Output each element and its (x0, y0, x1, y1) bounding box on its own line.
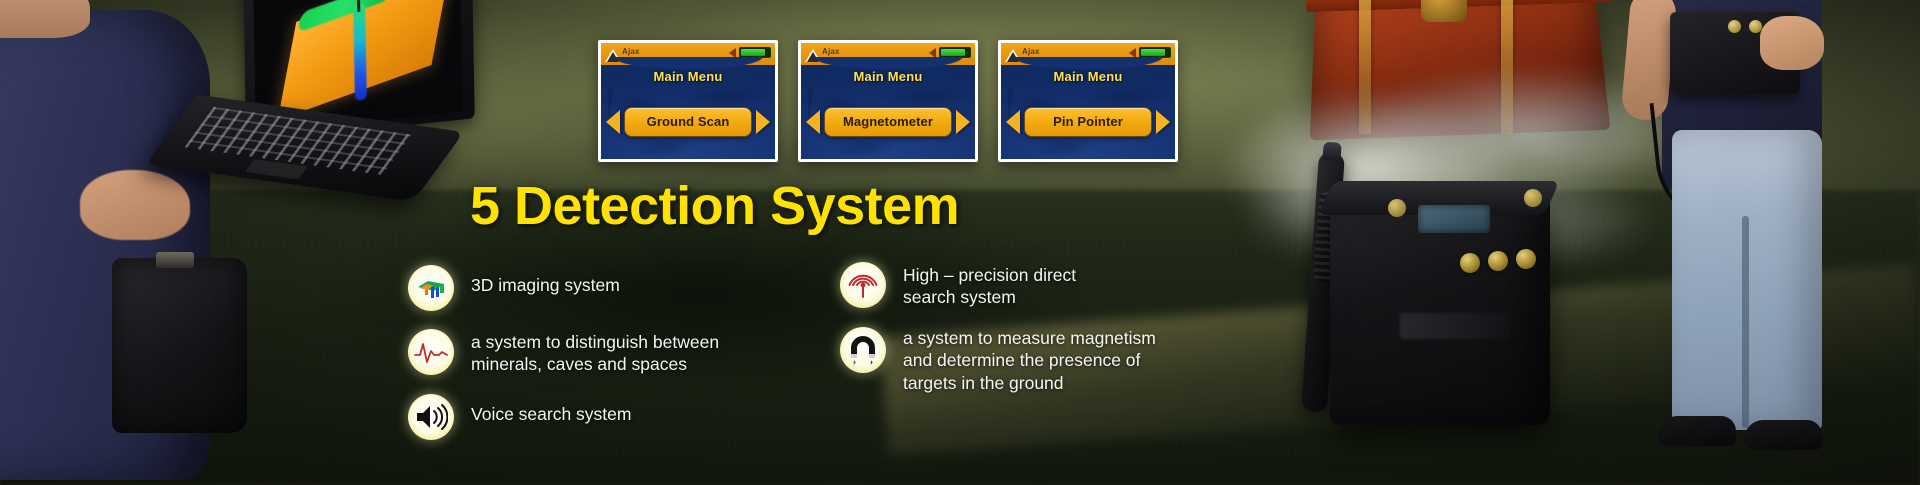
feature-list-right: High – precision direct search system a … (840, 262, 1240, 412)
chevron-right-icon[interactable] (956, 110, 970, 134)
feature-label: a system to measure magnetism and determ… (903, 327, 1156, 394)
promo-banner: Ajax Main Menu Ground Scan (0, 0, 1920, 485)
3d-imaging-icon (408, 265, 454, 311)
menu-option-button[interactable]: Pin Pointer (1024, 107, 1152, 137)
magnet-glyph (847, 334, 879, 366)
battery-icon (939, 47, 971, 58)
detector-knob (1460, 253, 1480, 273)
feature-item-3d-imaging: 3D imaging system (408, 265, 828, 311)
person-with-detector (1640, 0, 1920, 485)
speaker-icon (1129, 48, 1136, 58)
detector-knob (1516, 249, 1536, 269)
feature-item-direct-search: High – precision direct search system (840, 262, 1240, 309)
feature-label: 3D imaging system (471, 265, 620, 296)
device-menu-panels: Ajax Main Menu Ground Scan (598, 40, 1178, 162)
equipment-bag (112, 258, 247, 433)
chevron-left-icon[interactable] (606, 110, 620, 134)
feature-item-magnetometer: a system to measure magnetism and determ… (840, 327, 1240, 394)
right-person-hand (1760, 16, 1824, 70)
waist-knob (1728, 20, 1741, 33)
feature-label: High – precision direct search system (903, 262, 1076, 309)
battery-icon (1139, 47, 1171, 58)
chevron-left-icon[interactable] (1006, 110, 1020, 134)
feature-label: Voice search system (471, 394, 631, 425)
menu-option-button[interactable]: Ground Scan (624, 107, 752, 137)
mountain-logo-icon (805, 46, 822, 62)
chest-band (1501, 0, 1513, 134)
detector-knob (1488, 251, 1508, 271)
device-panel-ground-scan[interactable]: Ajax Main Menu Ground Scan (598, 40, 778, 162)
left-person-arm (80, 170, 190, 240)
device-panel-pin-pointer[interactable]: Ajax Main Menu Pin Pointer (998, 40, 1178, 162)
scan-marker-needle (357, 0, 360, 12)
feature-list-left: 3D imaging system a system to distinguis… (408, 265, 828, 458)
antenna-signal-glyph (847, 269, 879, 301)
waveform-glyph (413, 338, 449, 366)
panel-title: Main Menu (1001, 69, 1175, 84)
device-status-bar: Ajax (1001, 43, 1175, 65)
magnet-icon (840, 327, 886, 373)
feature-label: a system to distinguish between minerals… (471, 329, 719, 376)
detector-latch (1388, 199, 1406, 217)
mountain-logo-icon (1005, 46, 1022, 62)
detector-case (1330, 195, 1550, 425)
detector-brand-emboss (1400, 313, 1510, 339)
speaker-wave-glyph (414, 402, 448, 432)
device-status-bar: Ajax (801, 43, 975, 65)
chevron-right-icon[interactable] (1156, 110, 1170, 134)
right-person-shoe (1658, 416, 1736, 446)
chest-band (1359, 0, 1371, 134)
menu-option-button[interactable]: Magnetometer (824, 107, 952, 137)
scan-target-spike (353, 3, 367, 101)
panel-title: Main Menu (601, 69, 775, 84)
right-person-shoe (1744, 420, 1822, 450)
wand-tip (1323, 142, 1342, 161)
chevron-right-icon[interactable] (756, 110, 770, 134)
speaker-wave-icon (408, 394, 454, 440)
bag-buckle (156, 252, 194, 268)
speaker-icon (929, 48, 936, 58)
chest-lock-icon (1421, 0, 1467, 22)
device-panel-magnetometer[interactable]: Ajax Main Menu Magnetometer (798, 40, 978, 162)
mountain-logo-icon (605, 46, 622, 62)
speaker-icon (729, 48, 736, 58)
feature-item-mineral-discrimination: a system to distinguish between minerals… (408, 329, 828, 376)
panel-title: Main Menu (801, 69, 975, 84)
detector-display (1418, 205, 1490, 233)
feature-item-voice-search: Voice search system (408, 394, 828, 440)
device-brand-label: Ajax (1022, 47, 1040, 56)
3d-imaging-glyph (414, 273, 448, 303)
jeans-seam (1742, 216, 1749, 428)
laptop (178, 0, 478, 197)
antenna-signal-icon (840, 262, 886, 308)
device-brand-label: Ajax (622, 47, 640, 56)
device-brand-label: Ajax (822, 47, 840, 56)
chevron-left-icon[interactable] (806, 110, 820, 134)
page-title: 5 Detection System (470, 175, 959, 237)
detector-latch (1524, 189, 1542, 207)
treasure-chest (1295, 0, 1625, 170)
waveform-icon (408, 329, 454, 375)
battery-icon (739, 47, 771, 58)
left-person-neck (0, 0, 90, 38)
device-status-bar: Ajax (601, 43, 775, 65)
